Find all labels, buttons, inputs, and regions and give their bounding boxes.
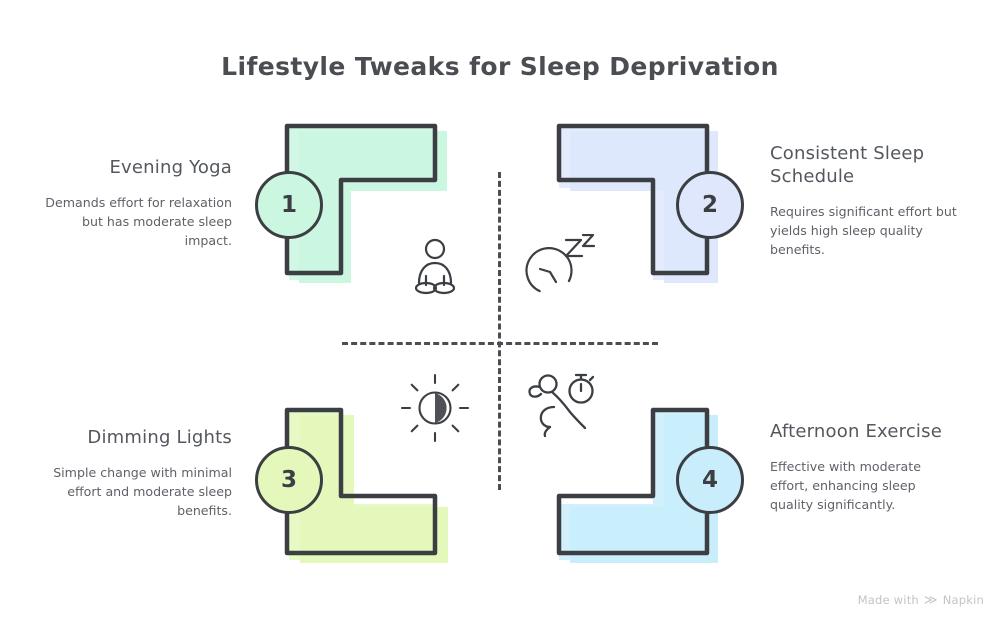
item-text-3: Dimming Lights Simple change with minima… (42, 426, 232, 520)
step-number-3: 3 (281, 467, 297, 493)
step-number-badge-3[interactable]: 3 (255, 446, 323, 514)
brightness-dimmer-icon (399, 372, 471, 444)
divider-horizontal (342, 342, 658, 345)
divider-vertical (498, 172, 501, 490)
napkin-watermark: Made with ≫ Napkin (858, 593, 984, 607)
puzzle-piece-2[interactable] (545, 118, 795, 333)
clock-zzz-icon (519, 234, 597, 300)
watermark-brand: Napkin (943, 593, 984, 607)
item-heading-4: Afternoon Exercise (770, 420, 960, 443)
step-number-badge-1[interactable]: 1 (255, 171, 323, 239)
step-number-badge-2[interactable]: 2 (676, 171, 744, 239)
page-title: Lifestyle Tweaks for Sleep Deprivation (0, 52, 1000, 81)
item-description-2: Requires significant effort but yields h… (770, 202, 960, 259)
item-description-1: Demands effort for relaxation but has mo… (42, 193, 232, 250)
item-heading-1: Evening Yoga (42, 156, 232, 179)
infographic-canvas: Lifestyle Tweaks for Sleep Deprivation (0, 0, 1000, 625)
item-text-2: Consistent Sleep Schedule Requires signi… (770, 142, 960, 259)
step-number-badge-4[interactable]: 4 (676, 446, 744, 514)
item-heading-3: Dimming Lights (42, 426, 232, 449)
item-description-4: Effective with moderate effort, enhancin… (770, 457, 960, 514)
step-number-2: 2 (702, 192, 718, 218)
step-number-4: 4 (702, 467, 718, 493)
item-text-1: Evening Yoga Demands effort for relaxati… (42, 156, 232, 250)
napkin-logo-icon: ≫ (924, 594, 938, 607)
watermark-text: Made with (858, 593, 919, 607)
step-number-1: 1 (281, 192, 297, 218)
item-text-4: Afternoon Exercise Effective with modera… (770, 420, 960, 514)
runner-stopwatch-icon (524, 371, 600, 441)
meditating-person-icon (404, 236, 466, 298)
item-heading-2: Consistent Sleep Schedule (770, 142, 960, 188)
item-description-3: Simple change with minimal effort and mo… (42, 463, 232, 520)
